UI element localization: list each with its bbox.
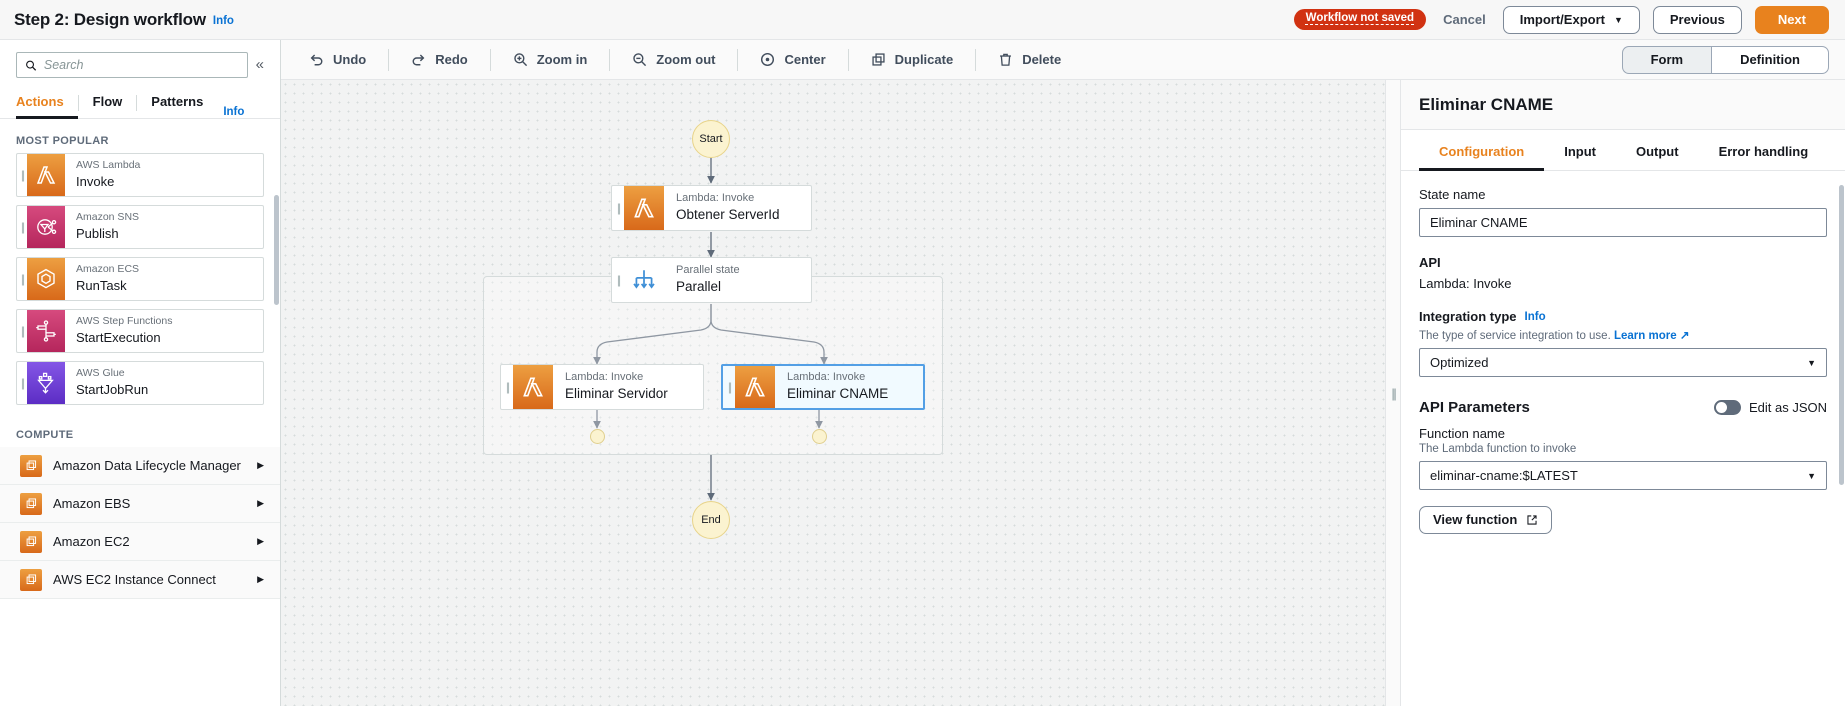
state-name-label: State name <box>1419 187 1827 202</box>
import-export-label: Import/Export <box>1520 12 1605 27</box>
search-icon <box>25 59 37 72</box>
chevron-down-icon: ▼ <box>1807 471 1816 481</box>
action-card-text: Amazon SNS Publish <box>65 206 139 248</box>
action-card-aws-lambda-invoke[interactable]: || AWS Lambda Invoke <box>16 153 264 197</box>
integration-type-hint: The type of service integration to use. … <box>1419 328 1827 342</box>
action-card-amazon-ecs-runtask[interactable]: || Amazon ECS RunTask <box>16 257 264 301</box>
drag-handle-icon[interactable]: || <box>17 362 27 404</box>
zoom-out-button[interactable]: Zoom out <box>609 49 737 71</box>
drag-handle-icon[interactable]: || <box>17 154 27 196</box>
search-input[interactable] <box>44 58 239 72</box>
aws-glue-icon <box>27 362 65 404</box>
action-card-service: AWS Glue <box>76 367 148 381</box>
action-card-action: Invoke <box>76 173 140 191</box>
zoom-in-icon <box>513 52 528 67</box>
zoom-in-button[interactable]: Zoom in <box>490 49 610 71</box>
action-card-text: AWS Glue StartJobRun <box>65 362 148 404</box>
action-card-text: AWS Lambda Invoke <box>65 154 140 196</box>
panel-resize-handle[interactable]: ||| <box>1385 80 1400 706</box>
view-mode-form[interactable]: Form <box>1622 46 1712 74</box>
redo-button[interactable]: Redo <box>388 49 490 71</box>
section-title-compute: COMPUTE <box>0 413 280 447</box>
action-card-service: Amazon SNS <box>76 211 139 225</box>
integration-type-group: Integration type Info The type of servic… <box>1419 309 1827 377</box>
workflow-node-type: Lambda: Invoke <box>787 370 888 385</box>
tab-flow[interactable]: Flow <box>79 88 137 119</box>
delete-button[interactable]: Delete <box>975 49 1083 71</box>
workflow-node-type: Lambda: Invoke <box>676 191 780 206</box>
action-card-service: Amazon ECS <box>76 263 139 277</box>
page-title: Step 2: Design workflow <box>14 10 206 30</box>
zoom-in-label: Zoom in <box>537 52 588 67</box>
status-badge: Workflow not saved <box>1294 9 1426 30</box>
action-card-action: Publish <box>76 225 139 243</box>
tab-input[interactable]: Input <box>1544 131 1616 171</box>
resize-grip-icon: ||| <box>1391 386 1395 401</box>
integration-type-hint-text: The type of service integration to use. <box>1419 330 1611 342</box>
drag-handle-icon[interactable]: || <box>612 186 624 230</box>
canvas-toolbar: Undo Redo Zoom in <box>281 40 1845 80</box>
sidebar-scroll-area[interactable]: MOST POPULAR || AWS Lambda Invoke <box>0 119 280 706</box>
start-node[interactable]: Start <box>692 120 730 158</box>
workflow-node-text: Parallel state Parallel <box>664 258 754 302</box>
sidebar-scrollbar[interactable] <box>274 195 279 305</box>
service-row-amazon-data-lifecycle-manager[interactable]: Amazon Data Lifecycle Manager ▶ <box>0 447 280 485</box>
edit-as-json-label: Edit as JSON <box>1749 400 1827 415</box>
center-label: Center <box>784 52 825 67</box>
duplicate-label: Duplicate <box>895 52 954 67</box>
action-card-text: Amazon ECS RunTask <box>65 258 139 300</box>
workflow-node-text: Lambda: Invoke Eliminar Servidor <box>553 365 682 409</box>
chevron-right-icon: ▶ <box>257 574 264 585</box>
branch-end-node-left[interactable] <box>590 429 605 444</box>
tab-output[interactable]: Output <box>1616 131 1699 171</box>
state-detail-panel: Eliminar CNAME Configuration Input Outpu… <box>1400 80 1845 706</box>
edit-as-json-toggle[interactable] <box>1714 400 1741 415</box>
sidebar-tabs: Actions Flow Patterns Info <box>0 87 280 119</box>
service-row-aws-ec2-instance-connect[interactable]: AWS EC2 Instance Connect ▶ <box>0 561 280 599</box>
service-row-amazon-ebs[interactable]: Amazon EBS ▶ <box>0 485 280 523</box>
canvas-wrapper: Start || Lambda: Invoke Obtener ServerId <box>281 80 1845 706</box>
drag-handle-icon[interactable]: || <box>612 258 624 302</box>
search-row: « <box>0 40 280 78</box>
delete-icon <box>998 52 1013 67</box>
chevron-right-icon: ▶ <box>257 498 264 509</box>
center-button[interactable]: Center <box>737 49 847 71</box>
action-card-action: StartJobRun <box>76 381 148 399</box>
workflow-node-text: Lambda: Invoke Eliminar CNAME <box>775 366 902 408</box>
aws-step-functions-icon <box>27 310 65 352</box>
drag-handle-icon[interactable]: || <box>17 258 27 300</box>
workflow-node-name: Obtener ServerId <box>676 206 780 224</box>
service-group-icon <box>20 569 42 591</box>
states-browser-sidebar: « Actions Flow Patterns Info MOST POPULA… <box>0 40 281 706</box>
integration-type-label: Integration type <box>1419 309 1517 324</box>
redo-label: Redo <box>435 52 468 67</box>
aws-lambda-icon <box>513 365 553 409</box>
patterns-info-link[interactable]: Info <box>223 106 244 118</box>
step-functions-workflow-designer: Step 2: Design workflow Info Workflow no… <box>0 0 1845 706</box>
search-box[interactable] <box>16 52 248 78</box>
amazon-ecs-icon <box>27 258 65 300</box>
function-name-label: Function name <box>1419 426 1827 441</box>
undo-icon <box>309 52 324 67</box>
api-parameters-header: API Parameters Edit as JSON <box>1419 399 1827 416</box>
end-label: End <box>701 514 721 526</box>
undo-label: Undo <box>333 52 366 67</box>
integration-type-info-link[interactable]: Info <box>1525 311 1546 323</box>
api-label: API <box>1419 255 1827 270</box>
tab-error-handling[interactable]: Error handling <box>1699 131 1829 171</box>
chevron-down-icon: ▼ <box>1614 16 1623 25</box>
duplicate-icon <box>871 52 886 67</box>
tab-configuration[interactable]: Configuration <box>1419 131 1544 171</box>
action-card-text: AWS Step Functions StartExecution <box>65 310 172 352</box>
branch-end-node-right[interactable] <box>812 429 827 444</box>
service-group-icon <box>20 493 42 515</box>
action-card-amazon-sns-publish[interactable]: || Amazon SNS Publish <box>16 205 264 249</box>
action-card-action: StartExecution <box>76 329 172 347</box>
cancel-button[interactable]: Cancel <box>1439 12 1490 27</box>
integration-type-value: Optimized <box>1430 355 1489 370</box>
import-export-button[interactable]: Import/Export ▼ <box>1503 6 1640 34</box>
service-row-label: AWS EC2 Instance Connect <box>53 572 246 587</box>
chevron-right-icon: ▶ <box>257 460 264 471</box>
external-link-icon: ↗ <box>1680 330 1690 342</box>
service-row-label: Amazon Data Lifecycle Manager <box>53 458 246 473</box>
tab-actions[interactable]: Actions <box>16 88 78 119</box>
workflow-node-name: Eliminar CNAME <box>787 385 888 403</box>
undo-button[interactable]: Undo <box>287 49 388 71</box>
action-card-service: AWS Lambda <box>76 159 140 173</box>
drag-handle-icon[interactable]: || <box>723 366 735 408</box>
workflow-node-text: Lambda: Invoke Obtener ServerId <box>664 186 794 230</box>
chevron-right-icon: ▶ <box>257 536 264 547</box>
function-name-hint: The Lambda function to invoke <box>1419 443 1827 455</box>
amazon-sns-icon <box>27 206 65 248</box>
view-function-row: View function <box>1419 506 1827 534</box>
workflow-node-parallel[interactable]: || Parallel state Parallel <box>611 257 812 303</box>
next-button[interactable]: Next <box>1755 6 1829 34</box>
section-title-most-popular: MOST POPULAR <box>0 119 280 153</box>
canvas-column: Undo Redo Zoom in <box>281 40 1845 706</box>
service-row-amazon-ec2[interactable]: Amazon EC2 ▶ <box>0 523 280 561</box>
redo-icon <box>411 52 426 67</box>
collapse-panel-icon[interactable]: « <box>256 52 264 78</box>
detail-body: State name API Lambda: Invoke Integratio… <box>1401 171 1845 706</box>
view-function-button[interactable]: View function <box>1419 506 1552 534</box>
workflow-node-eliminar-cname[interactable]: || Lambda: Invoke Eliminar CNAME <box>721 364 925 410</box>
chevron-down-icon: ▼ <box>1807 358 1816 368</box>
detail-tabs: Configuration Input Output Error handlin… <box>1401 130 1845 171</box>
workflow-node-eliminar-servidor[interactable]: || Lambda: Invoke Eliminar Servidor <box>500 364 704 410</box>
workflow-node-obtener-serverid[interactable]: || Lambda: Invoke Obtener ServerId <box>611 185 812 231</box>
duplicate-button[interactable]: Duplicate <box>848 49 976 71</box>
function-name-value: eliminar-cname:$LATEST <box>1430 468 1578 483</box>
edit-as-json-toggle-group[interactable]: Edit as JSON <box>1714 400 1827 415</box>
aws-lambda-icon <box>27 154 65 196</box>
detail-panel-scrollbar[interactable] <box>1839 185 1844 485</box>
aws-lambda-icon <box>624 186 664 230</box>
detail-panel-title: Eliminar CNAME <box>1419 95 1827 115</box>
drag-handle-icon[interactable]: || <box>17 206 27 248</box>
service-row-label: Amazon EBS <box>53 496 246 511</box>
workflow-node-type: Lambda: Invoke <box>565 370 668 385</box>
integration-learn-more-link[interactable]: Learn more <box>1614 330 1677 342</box>
previous-button[interactable]: Previous <box>1653 6 1742 34</box>
integration-type-select[interactable]: Optimized ▼ <box>1419 348 1827 377</box>
delete-label: Delete <box>1022 52 1061 67</box>
zoom-out-icon <box>632 52 647 67</box>
workflow-node-name: Eliminar Servidor <box>565 385 668 403</box>
view-function-label: View function <box>1433 512 1517 527</box>
action-card-service: AWS Step Functions <box>76 315 172 329</box>
service-row-label: Amazon EC2 <box>53 534 246 549</box>
workflow-node-type: Parallel state <box>676 263 740 278</box>
tab-patterns[interactable]: Patterns <box>137 88 217 119</box>
header-info-link[interactable]: Info <box>213 15 234 27</box>
action-card-action: RunTask <box>76 277 139 295</box>
detail-header: Eliminar CNAME <box>1401 80 1845 130</box>
zoom-out-label: Zoom out <box>656 52 715 67</box>
start-label: Start <box>699 133 722 145</box>
drag-handle-icon[interactable]: || <box>501 365 513 409</box>
function-name-select[interactable]: eliminar-cname:$LATEST ▼ <box>1419 461 1827 490</box>
view-mode-definition[interactable]: Definition <box>1711 46 1829 74</box>
page-header: Step 2: Design workflow Info Workflow no… <box>0 0 1845 40</box>
service-group-icon <box>20 455 42 477</box>
external-link-icon <box>1526 514 1538 526</box>
end-node[interactable]: End <box>692 501 730 539</box>
workflow-canvas[interactable]: Start || Lambda: Invoke Obtener ServerId <box>281 80 1385 706</box>
main-body: « Actions Flow Patterns Info MOST POPULA… <box>0 40 1845 706</box>
action-card-aws-step-functions-startexecution[interactable]: || AWS Step Functions StartExecution <box>16 309 264 353</box>
parallel-state-icon <box>624 258 664 302</box>
action-card-aws-glue-startjobrun[interactable]: || AWS Glue StartJobRun <box>16 361 264 405</box>
drag-handle-icon[interactable]: || <box>17 310 27 352</box>
header-actions: Workflow not saved Cancel Import/Export … <box>1294 6 1829 34</box>
api-parameters-label: API Parameters <box>1419 399 1530 416</box>
workflow-node-name: Parallel <box>676 278 740 296</box>
center-icon <box>760 52 775 67</box>
view-mode-toggle: Form Definition <box>1622 46 1845 74</box>
aws-lambda-icon <box>735 366 775 408</box>
api-value: Lambda: Invoke <box>1419 276 1827 291</box>
state-name-input[interactable] <box>1419 208 1827 237</box>
service-group-icon <box>20 531 42 553</box>
